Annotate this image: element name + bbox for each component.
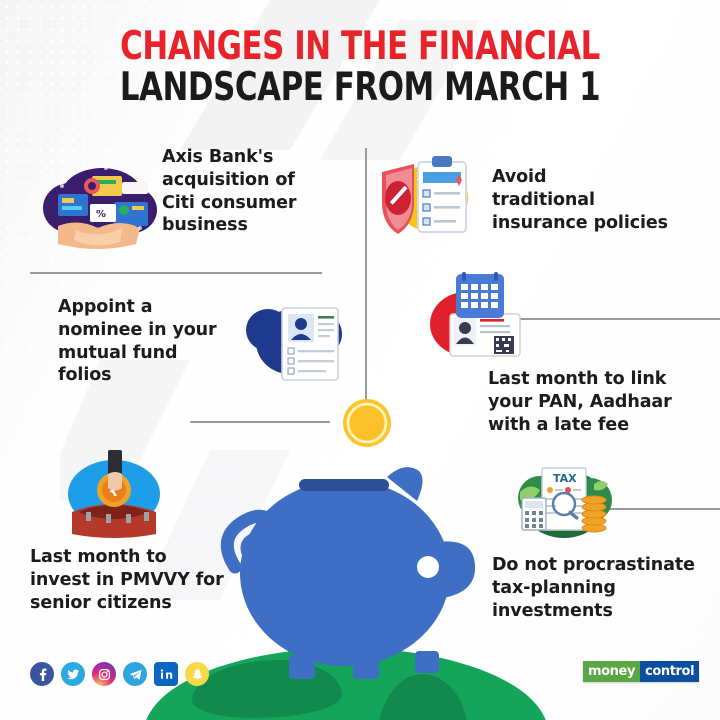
connector-horizontal-right-tax [606,508,720,510]
title-line-2: LANDSCAPE FROM MARCH 1 [43,67,677,108]
shield-clipboard-icon [374,150,484,259]
logo-control-part: control [640,661,699,682]
infographic-canvas: CHANGES IN THE FINANCIAL LANDSCAPE FROM … [0,0,720,720]
instagram-icon[interactable] [92,662,116,686]
social-links-row[interactable] [30,662,209,686]
piggy-bank-icon [205,455,495,685]
item-nominee-mf-label: Appoint a nominee in your mutual fund fo… [58,296,248,387]
snapchat-icon[interactable] [185,662,209,686]
connector-horizontal-left-piggy [190,421,330,423]
item-tax-planning-label: Do not procrastinate tax-planning invest… [492,554,720,622]
linkedin-icon[interactable] [154,662,178,686]
connector-vertical-center [365,148,367,410]
telegram-icon[interactable] [123,662,147,686]
title-line-1: CHANGES IN THE FINANCIAL [43,26,677,67]
twitter-icon[interactable] [61,662,85,686]
gold-coin-icon [342,398,392,453]
svg-text:%: % [96,209,106,220]
svg-text:TAX: TAX [553,472,577,485]
logo-money-part: money [583,661,640,682]
connector-horizontal-left-upper [30,272,322,274]
tax-document-calculator-icon: TAX [506,458,622,553]
nominee-document-icon [240,290,350,400]
item-pan-aadhaar-label: Last month to link your PAN, Aadhaar wit… [488,368,718,436]
item-axis-citi-label: Axis Bank's acquisition of Citi consumer… [162,146,342,237]
hand-coin-piggy-slot-icon: ₹ [54,450,174,547]
connector-horizontal-right-pan [516,318,720,320]
item-avoid-insurance-label: Avoid traditional insurance policies [492,166,702,234]
moneycontrol-logo[interactable]: money control [583,661,699,682]
calendar-aadhaar-card-icon [416,272,534,369]
facebook-icon[interactable] [30,662,54,686]
handshake-business-icon: % [36,150,161,265]
page-title: CHANGES IN THE FINANCIAL LANDSCAPE FROM … [0,26,720,109]
